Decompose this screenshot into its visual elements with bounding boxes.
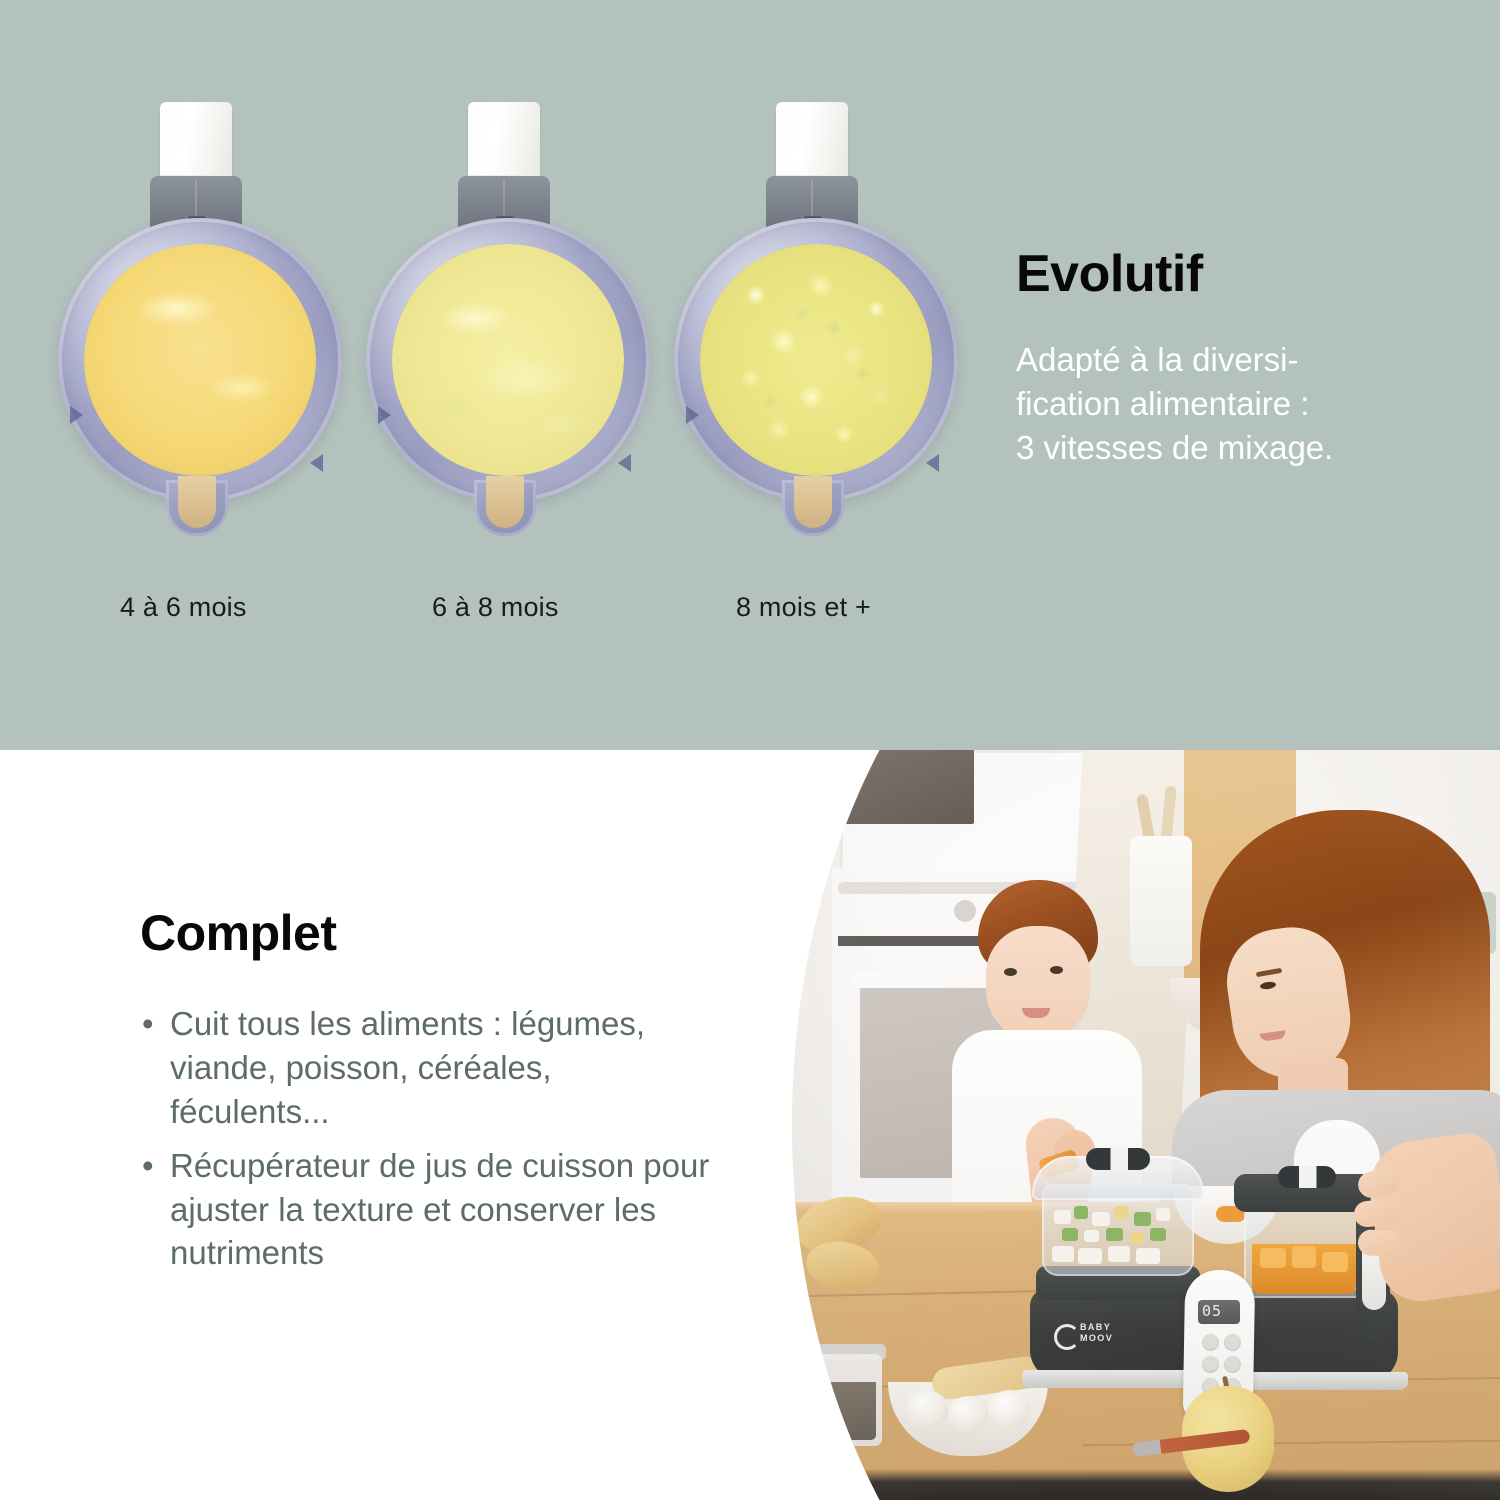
garlic-bulb xyxy=(948,1396,988,1432)
bowl-cap-icon xyxy=(160,102,232,180)
bowl-unit-6-8-mois xyxy=(358,98,658,548)
measure-triangle-right-icon xyxy=(310,454,323,472)
food-chunk xyxy=(1136,1248,1160,1264)
food-chunk xyxy=(1092,1212,1110,1226)
evolutif-section: 4 à 6 mois 6 à 8 mois 8 mois et + Evolut… xyxy=(0,0,1500,750)
bowl-cap-icon xyxy=(776,102,848,180)
food-chunk xyxy=(1114,1206,1129,1219)
babymoov-wordmark: BABY MOOV xyxy=(1080,1322,1113,1344)
food-chunk xyxy=(1156,1208,1170,1221)
control-button[interactable] xyxy=(1224,1356,1241,1373)
food-chunk xyxy=(1150,1228,1166,1241)
product-feature-page: 4 à 6 mois 6 à 8 mois 8 mois et + Evolut… xyxy=(0,0,1500,1500)
spout-interior xyxy=(178,476,216,528)
bowl-jar xyxy=(366,218,650,502)
food-chunk xyxy=(1062,1228,1078,1241)
oven-door-trim xyxy=(852,972,942,988)
carrot-chunk xyxy=(1260,1248,1286,1268)
spout-interior xyxy=(486,476,524,528)
complet-heading: Complet xyxy=(140,908,720,958)
bowl-jar xyxy=(58,218,342,502)
kitchen-lifestyle-photo: BABY MOOV 05 xyxy=(782,750,1500,1500)
measure-triangle-left-icon xyxy=(686,406,699,424)
food-chunk xyxy=(1106,1228,1123,1241)
counter-edge xyxy=(782,1470,1500,1500)
puree-smooth xyxy=(84,244,316,476)
bowl-unit-8-mois-plus xyxy=(666,98,966,548)
babymoov-swirl-icon xyxy=(1054,1324,1080,1350)
bowl-spout xyxy=(166,480,228,536)
bowl-jar-inner xyxy=(84,244,316,476)
bowl-jar-inner xyxy=(700,244,932,476)
evolutif-heading: Evolutif xyxy=(1016,248,1476,300)
spout-interior xyxy=(794,476,832,528)
complet-copy-block: Complet Cuit tous les aliments : légumes… xyxy=(140,908,720,1285)
carrot-chunk xyxy=(1292,1246,1316,1268)
complet-bullet-list: Cuit tous les aliments : légumes, viande… xyxy=(140,1002,720,1275)
puree-chunky xyxy=(700,244,932,476)
measure-triangle-left-icon xyxy=(70,406,83,424)
bowl-spout xyxy=(474,480,536,536)
child-eye-right xyxy=(1050,966,1063,974)
list-item: Cuit tous les aliments : légumes, viande… xyxy=(140,1002,720,1134)
bowl-spout xyxy=(782,480,844,536)
bowl-jar-inner xyxy=(392,244,624,476)
food-chunk xyxy=(1078,1248,1102,1264)
food-chunk xyxy=(1108,1246,1130,1262)
evolutif-paragraph: Adapté à la diversi- fication alimentair… xyxy=(1016,338,1476,470)
evolutif-copy-block: Evolutif Adapté à la diversi- fication a… xyxy=(1016,248,1476,470)
age-label-4-6-mois: 4 à 6 mois xyxy=(120,592,247,623)
food-chunk xyxy=(1134,1212,1151,1226)
list-item: Récupérateur de jus de cuisson pour ajus… xyxy=(140,1144,720,1276)
control-button[interactable] xyxy=(1224,1334,1241,1351)
bowl-unit-4-6-mois xyxy=(50,98,350,548)
child-eye-left xyxy=(1004,968,1017,976)
age-label-8-mois-plus: 8 mois et + xyxy=(736,592,871,623)
bowl-row xyxy=(0,0,1000,620)
measure-triangle-right-icon xyxy=(926,454,939,472)
steamer-lid-knob xyxy=(1086,1148,1150,1170)
food-chunk xyxy=(1130,1232,1144,1244)
control-button[interactable] xyxy=(1202,1334,1219,1351)
babymoov-logo: BABY MOOV xyxy=(1054,1320,1144,1350)
age-label-row: 4 à 6 mois 6 à 8 mois 8 mois et + xyxy=(0,592,1000,652)
bowl-jar xyxy=(674,218,958,502)
garlic-bulb xyxy=(906,1390,948,1428)
finger xyxy=(1358,1229,1403,1257)
food-chunk xyxy=(1052,1246,1074,1262)
carrot-chunk xyxy=(1322,1252,1348,1272)
display-value: 05 xyxy=(1202,1302,1222,1320)
food-chunk xyxy=(1084,1230,1099,1242)
measure-triangle-left-icon xyxy=(378,406,391,424)
puree-medium xyxy=(392,244,624,476)
bowl-cap-icon xyxy=(468,102,540,180)
child-face xyxy=(986,926,1090,1042)
control-button[interactable] xyxy=(1202,1356,1219,1373)
food-chunk xyxy=(1074,1206,1088,1219)
food-chunk xyxy=(1054,1210,1071,1224)
age-label-6-8-mois: 6 à 8 mois xyxy=(432,592,559,623)
photo-scene: BABY MOOV 05 xyxy=(782,750,1500,1500)
blender-lid-knob xyxy=(1278,1166,1336,1188)
measure-triangle-right-icon xyxy=(618,454,631,472)
